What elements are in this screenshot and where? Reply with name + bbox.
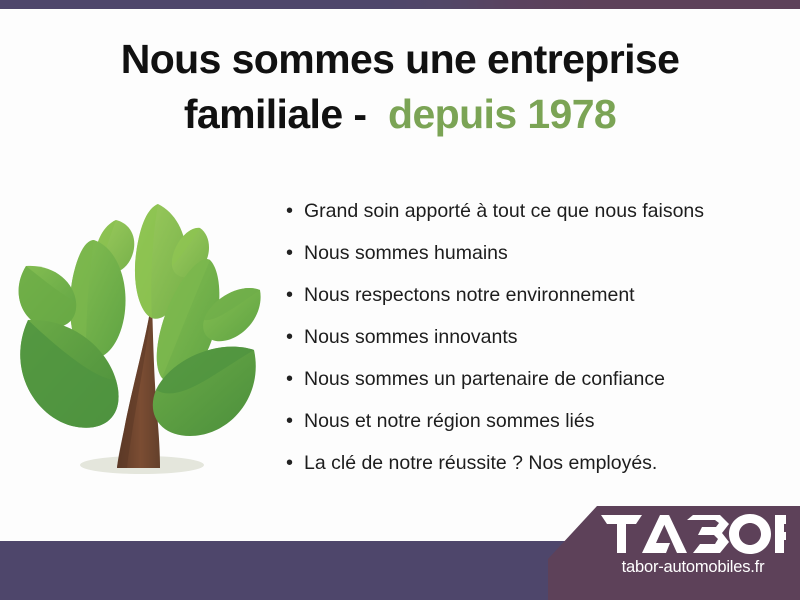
bullet-icon: •: [286, 400, 304, 442]
bullet-icon: •: [286, 232, 304, 274]
list-item: • Grand soin apporté à tout ce que nous …: [286, 190, 776, 232]
headline-dash: [343, 91, 354, 137]
leaf-far-left: [19, 266, 77, 328]
top-accent-strip: [0, 0, 800, 9]
list-item-label: Grand soin apporté à tout ce que nous fa…: [304, 190, 704, 232]
list-item: • Nous sommes innovants: [286, 316, 776, 358]
bullet-icon: •: [286, 358, 304, 400]
bullet-icon: •: [286, 274, 304, 316]
list-item: • Nous sommes humains: [286, 232, 776, 274]
headline-gap: [366, 91, 388, 137]
brand-logo[interactable]: tabor-automobiles.fr: [600, 512, 790, 592]
list-item-label: La clé de notre réussite ? Nos employés.: [304, 442, 657, 484]
list-item: • Nous sommes un partenaire de confiance: [286, 358, 776, 400]
headline-plain: familiale: [184, 91, 343, 137]
benefits-list: • Grand soin apporté à tout ce que nous …: [286, 190, 776, 484]
list-item-label: Nous respectons notre environnement: [304, 274, 635, 316]
page-title: Nous sommes une entreprise familiale - d…: [40, 32, 760, 141]
bullet-icon: •: [286, 442, 304, 484]
list-item-label: Nous sommes innovants: [304, 316, 518, 358]
tree-illustration: [14, 182, 270, 492]
bullet-icon: •: [286, 316, 304, 358]
list-item: • La clé de notre réussite ? Nos employé…: [286, 442, 776, 484]
list-item-label: Nous et notre région sommes liés: [304, 400, 594, 442]
list-item-label: Nous sommes humains: [304, 232, 508, 274]
headline-accent: depuis 1978: [388, 91, 616, 137]
list-item-label: Nous sommes un partenaire de confiance: [304, 358, 665, 400]
list-item: • Nous respectons notre environnement: [286, 274, 776, 316]
tabor-wordmark-icon: [600, 512, 786, 556]
list-item: • Nous et notre région sommes liés: [286, 400, 776, 442]
brand-url[interactable]: tabor-automobiles.fr: [600, 558, 786, 577]
bullet-icon: •: [286, 190, 304, 232]
headline-dash-glyph: -: [353, 91, 366, 137]
headline-line-1: Nous sommes une entreprise: [40, 32, 760, 87]
slide-canvas: Nous sommes une entreprise familiale - d…: [0, 0, 800, 600]
headline-line-2: familiale - depuis 1978: [40, 87, 760, 142]
